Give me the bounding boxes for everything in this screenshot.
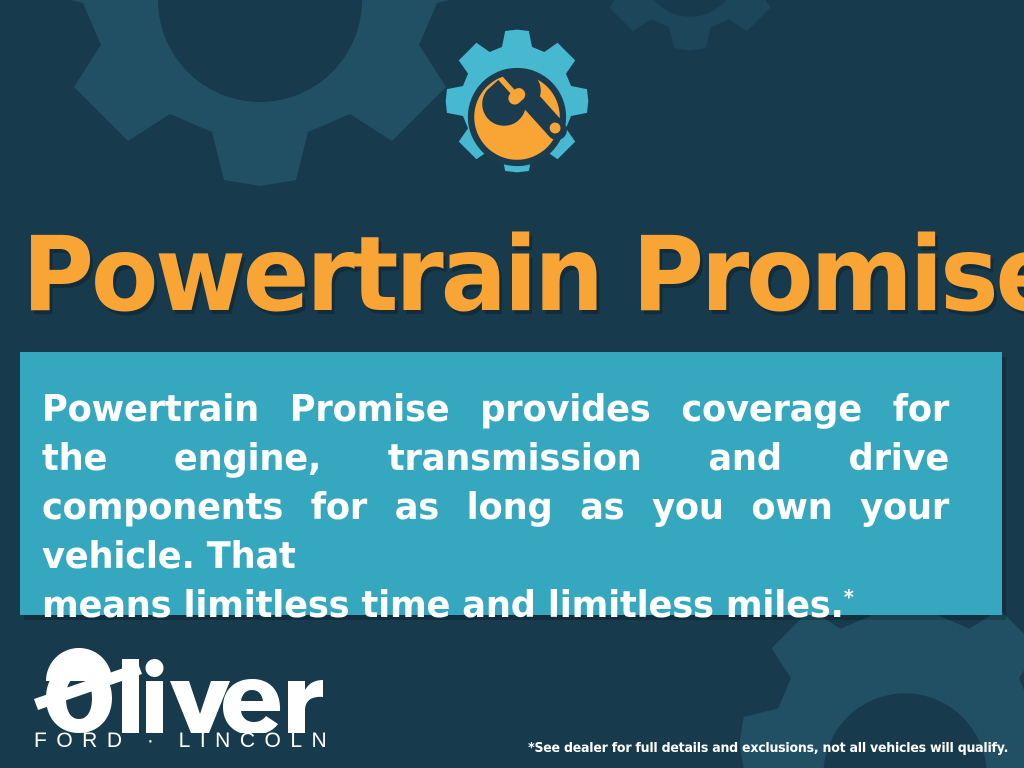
promise-description-text: Powertrain Promise provides coverage for… (42, 384, 949, 629)
dealer-logo: FORD · LINCOLN (30, 641, 330, 753)
footnote-marker: * (844, 585, 854, 609)
powertrain-promise-poster: Powertrain Promise Powertrain Promise pr… (0, 0, 1024, 768)
page-title: Powertrain Promise (22, 219, 967, 331)
promise-description-last-line: means limitless time and limitless miles… (42, 580, 949, 629)
promise-description-body: Powertrain Promise provides coverage for… (42, 387, 949, 577)
gear-icon (426, 26, 608, 208)
disclaimer-text: *See dealer for full details and exclusi… (528, 740, 1008, 756)
oliver-wordmark-icon (30, 641, 330, 733)
dealer-logo-subtitle: FORD · LINCOLN (34, 729, 336, 753)
promise-description-panel: Powertrain Promise provides coverage for… (20, 352, 1002, 615)
